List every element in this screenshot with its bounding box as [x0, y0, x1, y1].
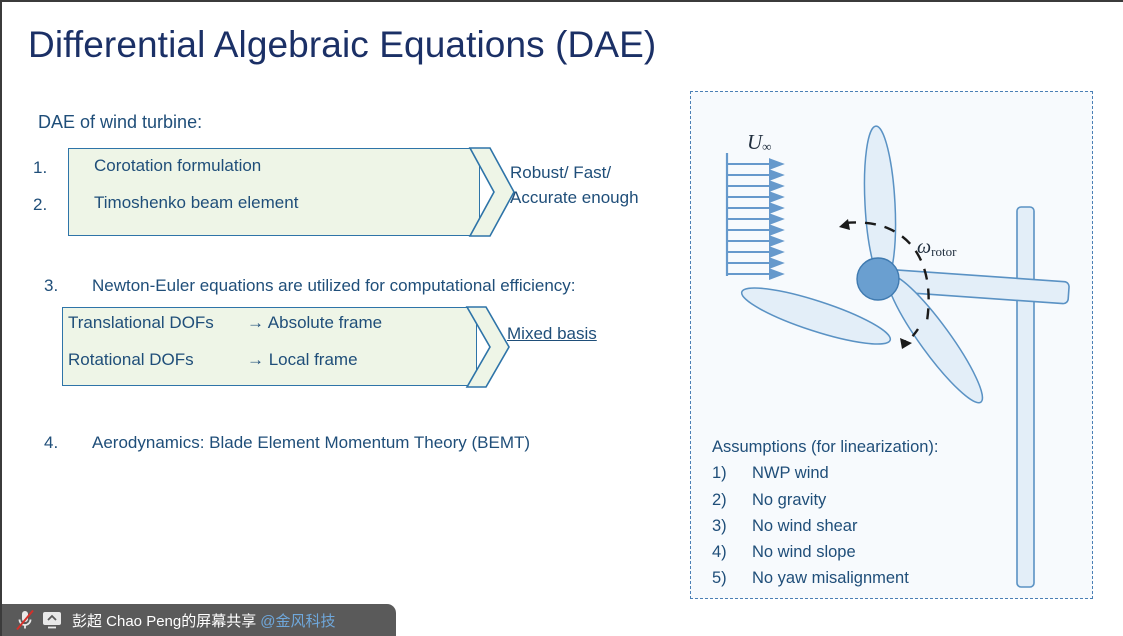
list-number-4: 4.	[44, 433, 58, 453]
callout-robust-fast-line2: Accurate enough	[510, 186, 639, 211]
list-number-3: 3.	[44, 276, 58, 296]
microphone-muted-icon[interactable]	[12, 609, 38, 631]
rotor-speed-subscript: rotor	[931, 244, 956, 259]
list-item-2-label: Timoshenko beam element	[94, 193, 298, 213]
chevron-arrow-1-icon	[468, 146, 516, 238]
assumptions-list: Assumptions (for linearization): 1) NWP …	[712, 434, 939, 592]
assumption-index-3: 3)	[712, 513, 752, 539]
slide-canvas: Differential Algebraic Equations (DAE) D…	[2, 2, 1123, 636]
lead-text: DAE of wind turbine:	[38, 112, 202, 133]
screen-share-icon[interactable]	[38, 610, 66, 630]
assumption-index-5: 5)	[712, 565, 752, 591]
list-number-2: 2.	[33, 195, 47, 215]
assumption-index-2: 2)	[712, 487, 752, 513]
wind-speed-symbol: U	[747, 130, 762, 154]
assumption-item-3: 3) No wind shear	[712, 513, 939, 539]
rotational-dofs-label: Rotational DOFs	[68, 350, 194, 370]
assumptions-header: Assumptions (for linearization):	[712, 434, 939, 460]
callout-mixed-basis: Mixed basis	[507, 322, 597, 347]
list-number-1: 1.	[33, 158, 47, 178]
list-item-1-label: Corotation formulation	[94, 156, 261, 176]
assumption-text-4: No wind slope	[752, 539, 856, 565]
callout-robust-fast-line1: Robust/ Fast/	[510, 161, 639, 186]
assumption-text-2: No gravity	[752, 487, 826, 513]
assumption-item-1: 1) NWP wind	[712, 460, 939, 486]
assumption-item-4: 4) No wind slope	[712, 539, 939, 565]
translational-dofs-frame: → Absolute frame	[247, 313, 382, 333]
assumption-item-2: 2) No gravity	[712, 487, 939, 513]
page-title: Differential Algebraic Equations (DAE)	[28, 24, 656, 66]
rotational-dofs-frame: → Local frame	[247, 350, 358, 370]
presenter-org: @金风科技	[260, 610, 335, 631]
list-item-3-label: Newton-Euler equations are utilized for …	[92, 276, 576, 296]
callout-robust-fast: Robust/ Fast/ Accurate enough	[510, 161, 639, 210]
chevron-arrow-2-icon	[465, 305, 511, 389]
translational-dofs-label: Translational DOFs	[68, 313, 214, 333]
presenter-name: 彭超 Chao Peng的屏幕共享	[72, 610, 256, 631]
assumption-index-4: 4)	[712, 539, 752, 565]
assumption-text-3: No wind shear	[752, 513, 857, 539]
assumption-text-1: NWP wind	[752, 460, 829, 486]
screenshare-status-bar: 彭超 Chao Peng的屏幕共享 @金风科技	[2, 604, 396, 636]
list-item-4-label: Aerodynamics: Blade Element Momentum The…	[92, 433, 530, 453]
rotor-speed-label: ωrotor	[917, 236, 956, 260]
assumption-item-5: 5) No yaw misalignment	[712, 565, 939, 591]
assumption-text-5: No yaw misalignment	[752, 565, 909, 591]
wind-speed-label: U∞	[747, 130, 771, 155]
rotor-speed-symbol: ω	[917, 236, 931, 258]
assumption-index-1: 1)	[712, 460, 752, 486]
wind-speed-subscript: ∞	[762, 139, 771, 154]
